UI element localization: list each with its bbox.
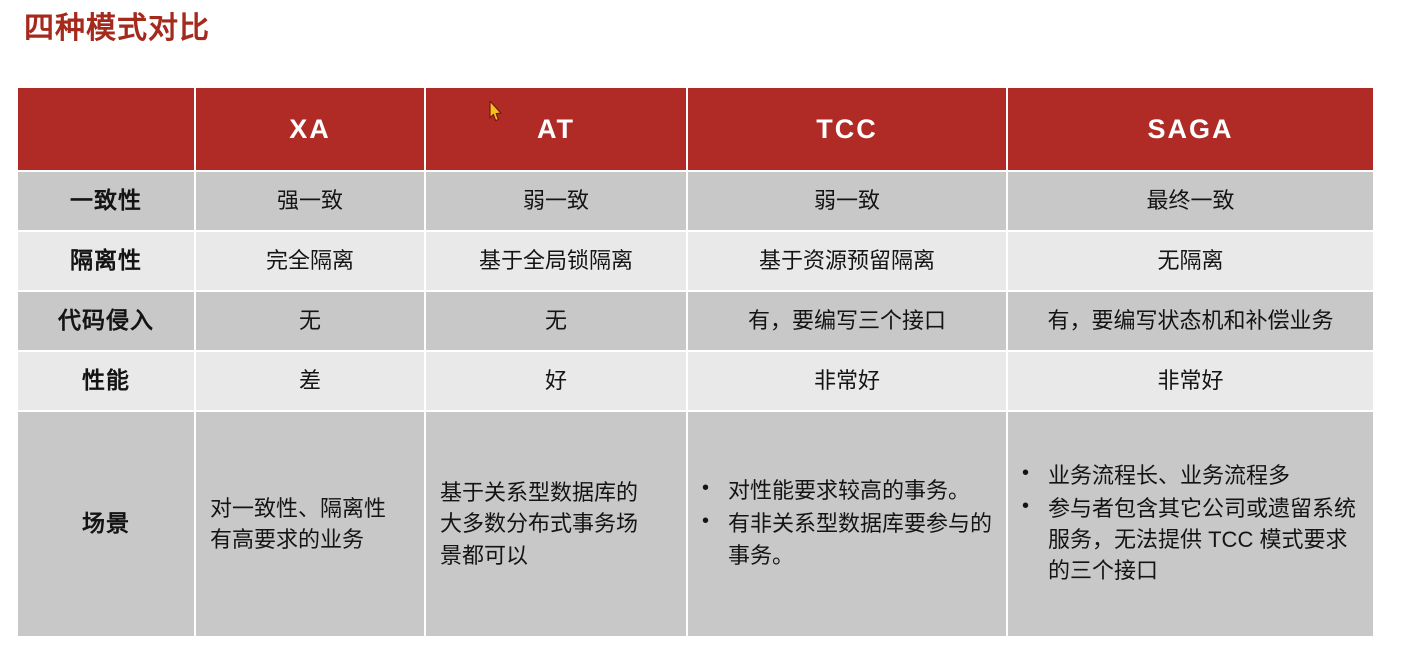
page-title: 四种模式对比 — [24, 9, 210, 49]
scenario-saga-bullet-list: 业务流程长、业务流程多 参与者包含其它公司或遗留系统服务，无法提供 TCC 模式… — [1008, 460, 1373, 587]
table-body: 一致性 强一致 弱一致 弱一致 最终一致 隔离性 完全隔离 基于全局锁隔离 基于… — [18, 172, 1373, 636]
list-item: 对性能要求较高的事务。 — [698, 475, 1000, 506]
column-header-saga: SAGA — [1008, 88, 1373, 170]
cell-consistency-xa: 强一致 — [196, 172, 424, 230]
comparison-table: XA AT TCC SAGA 一致性 强一致 弱一致 弱一致 最终一致 隔离性 … — [16, 86, 1375, 638]
column-header-at: AT — [426, 88, 686, 170]
table-row-scenario: 场景 对一致性、隔离性 有高要求的业务 基于关系型数据库的 大多数分布式事务场 … — [18, 412, 1373, 636]
table-header: XA AT TCC SAGA — [18, 88, 1373, 170]
list-item: 参与者包含其它公司或遗留系统服务，无法提供 TCC 模式要求的三个接口 — [1018, 493, 1367, 587]
cell-isolation-saga: 无隔离 — [1008, 232, 1373, 290]
cell-code-intrusion-at: 无 — [426, 292, 686, 350]
list-item: 有非关系型数据库要参与的事务。 — [698, 508, 1000, 570]
cell-performance-xa: 差 — [196, 352, 424, 410]
cell-performance-saga: 非常好 — [1008, 352, 1373, 410]
cell-isolation-at: 基于全局锁隔离 — [426, 232, 686, 290]
row-header-consistency: 一致性 — [18, 172, 194, 230]
cell-isolation-tcc: 基于资源预留隔离 — [688, 232, 1006, 290]
cell-consistency-saga: 最终一致 — [1008, 172, 1373, 230]
cell-scenario-at: 基于关系型数据库的 大多数分布式事务场 景都可以 — [426, 412, 686, 636]
column-header-xa: XA — [196, 88, 424, 170]
row-header-scenario: 场景 — [18, 412, 194, 636]
table-row-code-intrusion: 代码侵入 无 无 有，要编写三个接口 有，要编写状态机和补偿业务 — [18, 292, 1373, 350]
table-row-isolation: 隔离性 完全隔离 基于全局锁隔离 基于资源预留隔离 无隔离 — [18, 232, 1373, 290]
cell-consistency-tcc: 弱一致 — [688, 172, 1006, 230]
cell-code-intrusion-saga: 有，要编写状态机和补偿业务 — [1008, 292, 1373, 350]
cell-performance-tcc: 非常好 — [688, 352, 1006, 410]
row-header-performance: 性能 — [18, 352, 194, 410]
table-row-performance: 性能 差 好 非常好 非常好 — [18, 352, 1373, 410]
table-row-consistency: 一致性 强一致 弱一致 弱一致 最终一致 — [18, 172, 1373, 230]
cell-performance-at: 好 — [426, 352, 686, 410]
cell-code-intrusion-xa: 无 — [196, 292, 424, 350]
cell-consistency-at: 弱一致 — [426, 172, 686, 230]
header-row: XA AT TCC SAGA — [18, 88, 1373, 170]
list-item: 业务流程长、业务流程多 — [1018, 460, 1367, 491]
row-header-code-intrusion: 代码侵入 — [18, 292, 194, 350]
scenario-tcc-bullet-list: 对性能要求较高的事务。 有非关系型数据库要参与的事务。 — [688, 475, 1006, 571]
cell-scenario-tcc: 对性能要求较高的事务。 有非关系型数据库要参与的事务。 — [688, 412, 1006, 636]
column-header-tcc: TCC — [688, 88, 1006, 170]
column-header-blank — [18, 88, 194, 170]
row-header-isolation: 隔离性 — [18, 232, 194, 290]
cell-scenario-xa: 对一致性、隔离性 有高要求的业务 — [196, 412, 424, 636]
scenario-at-text: 基于关系型数据库的 大多数分布式事务场 景都可以 — [426, 477, 686, 571]
scenario-xa-text: 对一致性、隔离性 有高要求的业务 — [196, 493, 424, 555]
cell-isolation-xa: 完全隔离 — [196, 232, 424, 290]
cell-scenario-saga: 业务流程长、业务流程多 参与者包含其它公司或遗留系统服务，无法提供 TCC 模式… — [1008, 412, 1373, 636]
cell-code-intrusion-tcc: 有，要编写三个接口 — [688, 292, 1006, 350]
